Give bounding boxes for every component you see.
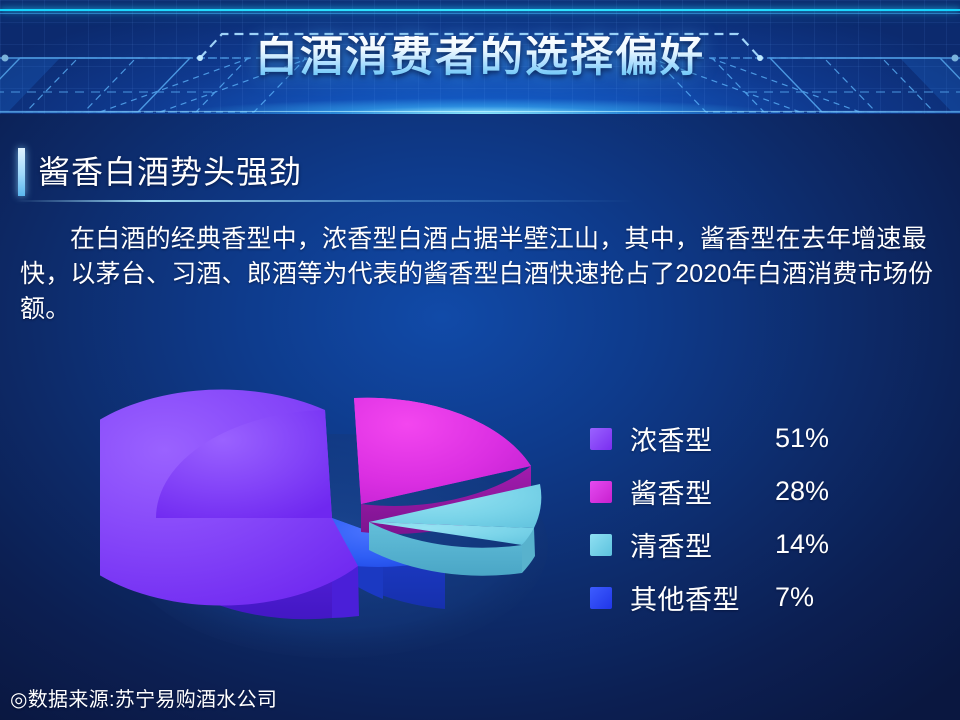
body-paragraph: 在白酒的经典香型中，浓香型白酒占据半壁江山，其中，酱香型在去年增速最快，以茅台、…	[20, 222, 944, 327]
legend-percent: 51%	[775, 423, 829, 454]
page-title: 白酒消费者的选择偏好	[0, 36, 960, 79]
legend-label: 浓香型	[630, 419, 713, 458]
section-underline	[16, 200, 636, 202]
legend-percent: 28%	[775, 476, 829, 507]
section-subtitle: 酱香白酒势头强劲	[38, 150, 302, 194]
legend-label: 清香型	[630, 525, 713, 564]
header-banner: 白酒消费者的选择偏好	[0, 0, 960, 114]
legend-percent: 7%	[775, 582, 814, 613]
legend-label: 其他香型	[630, 578, 740, 617]
section-accent-bar	[18, 148, 25, 196]
legend-percent: 14%	[775, 529, 829, 560]
pie-slice-nongxiang[interactable]	[100, 390, 359, 620]
legend-swatch-icon	[590, 481, 612, 503]
slide-canvas: 白酒消费者的选择偏好 酱香白酒势头强劲 在白酒的经典香型中，浓香型白酒占据半壁江…	[0, 0, 960, 720]
legend-item[interactable]: 清香型 14%	[590, 518, 920, 571]
legend-swatch-icon	[590, 428, 612, 450]
pie-chart	[100, 350, 580, 690]
legend-swatch-icon	[590, 587, 612, 609]
legend-item[interactable]: 其他香型 7%	[590, 571, 920, 624]
legend-label: 酱香型	[630, 472, 713, 511]
header-top-rule	[0, 9, 960, 11]
header-top-rule-secondary	[0, 13, 960, 14]
legend-item[interactable]: 酱香型 28%	[590, 465, 920, 518]
chart-legend: 浓香型 51% 酱香型 28% 清香型 14% 其他香型 7%	[590, 412, 920, 624]
pie-chart-svg	[100, 350, 580, 690]
legend-swatch-icon	[590, 534, 612, 556]
legend-item[interactable]: 浓香型 51%	[590, 412, 920, 465]
data-source-note: ◎数据来源:苏宁易购酒水公司	[10, 683, 277, 712]
header-bottom-edge	[0, 111, 960, 112]
